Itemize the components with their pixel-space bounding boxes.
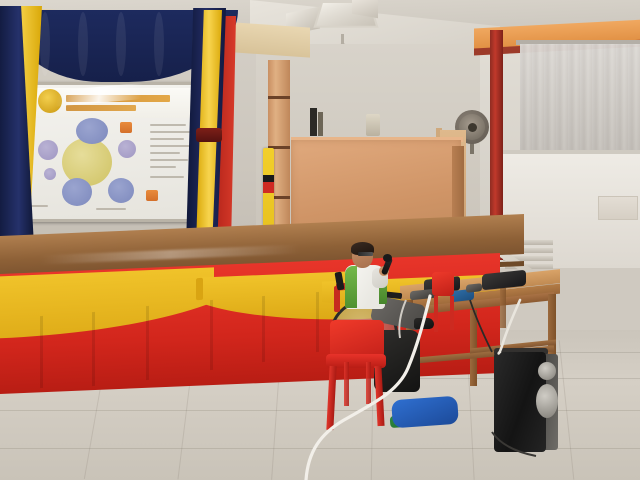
speaker-cable	[499, 300, 520, 354]
table-cable	[399, 300, 406, 338]
speaker-floor-cable	[492, 432, 536, 456]
white-power-cable	[306, 296, 430, 480]
black-signal-cable	[470, 300, 492, 352]
cable-layer	[0, 0, 640, 480]
photo-scene	[0, 0, 640, 480]
